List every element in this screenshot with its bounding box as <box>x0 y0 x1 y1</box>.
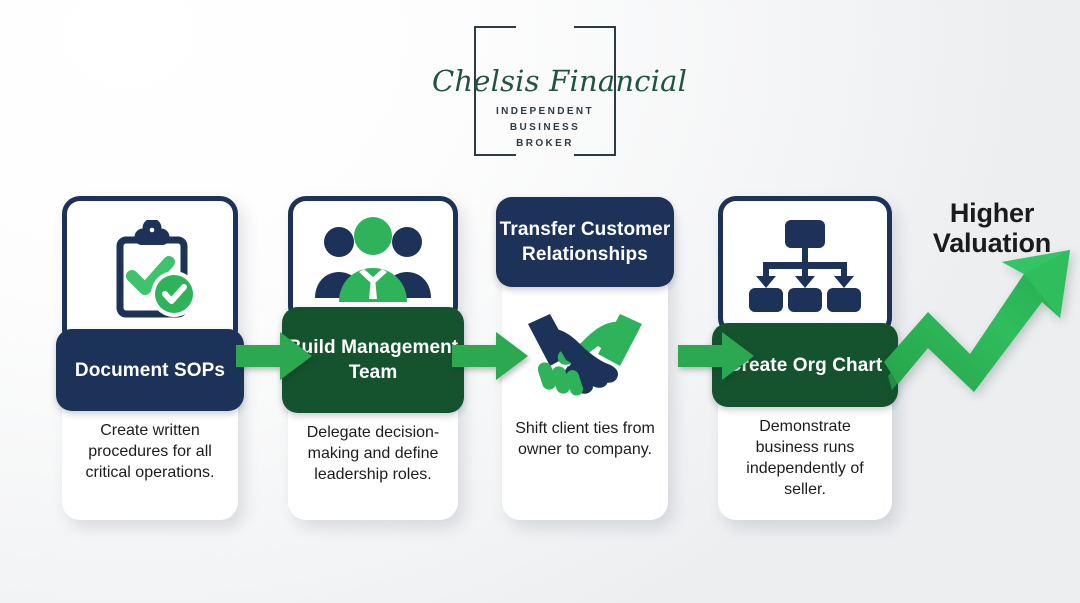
step-card-build-management-team[interactable]: Build Management Team Delegate decision-… <box>288 196 458 520</box>
org-chart-icon <box>723 201 887 331</box>
step-2-icon-panel <box>288 196 458 324</box>
logo-tagline-line-2: BUSINESS <box>480 120 610 136</box>
step-card-document-sops[interactable]: Document SOPs Create written procedures … <box>62 196 238 520</box>
step-1-description: Create written procedures for all critic… <box>70 420 230 483</box>
growth-arrow-up-icon <box>884 250 1080 410</box>
step-3-title-band: Transfer Customer Relationships <box>496 197 674 287</box>
logo-frame-bottom-left <box>474 154 516 156</box>
logo-tagline: INDEPENDENT BUSINESS BROKER <box>480 104 610 152</box>
outcome-label-line-1: Higher <box>908 198 1076 228</box>
logo-frame-bottom-right <box>574 154 616 156</box>
logo-tagline-line-1: INDEPENDENT <box>480 104 610 120</box>
team-group-icon <box>293 201 453 319</box>
step-4-icon-panel <box>718 196 892 336</box>
logo-tagline-line-3: BROKER <box>480 136 610 152</box>
infographic-canvas: Chelsis Financial INDEPENDENT BUSINESS B… <box>0 0 1080 603</box>
clipboard-check-icon <box>67 201 233 343</box>
logo-frame-top-left <box>474 26 516 28</box>
connector-arrow-1 <box>236 332 312 380</box>
connector-arrow-3 <box>678 332 754 380</box>
step-1-title-band: Document SOPs <box>56 329 244 411</box>
logo-frame-top-right <box>574 26 616 28</box>
logo-script-name: Chelsis Financial <box>432 64 658 98</box>
step-1-icon-panel <box>62 196 238 348</box>
step-3-description: Shift client ties from owner to company. <box>510 418 660 460</box>
step-3-title: Transfer Customer Relationships <box>496 217 674 267</box>
step-2-description: Delegate decision-making and define lead… <box>296 422 450 485</box>
step-4-description: Demonstrate business runs independently … <box>726 416 884 500</box>
connector-arrow-2 <box>452 332 528 380</box>
step-1-title: Document SOPs <box>75 358 225 383</box>
brand-logo: Chelsis Financial INDEPENDENT BUSINESS B… <box>474 26 616 156</box>
outcome-label: Higher Valuation <box>908 198 1076 258</box>
